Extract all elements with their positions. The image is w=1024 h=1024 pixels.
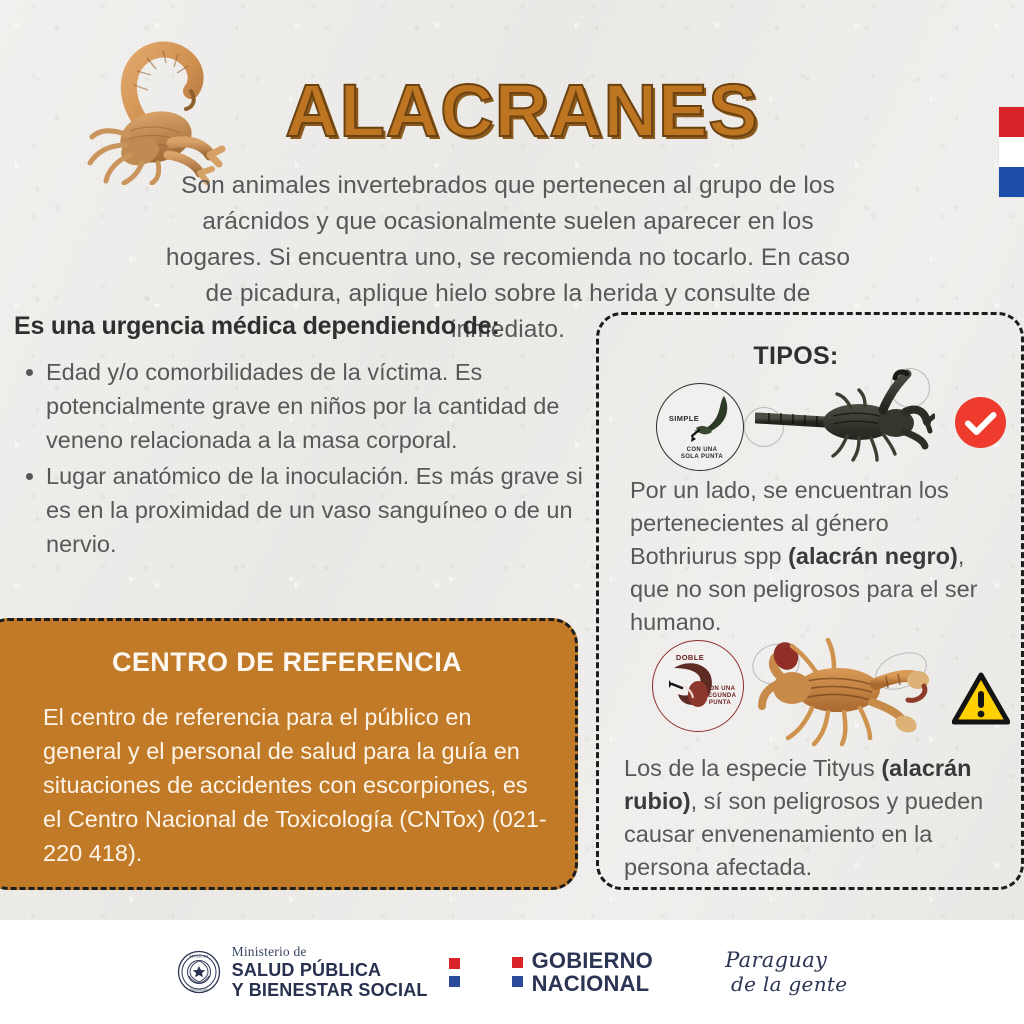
footer-bar: REPUBLICA PARAGUAY Ministerio de SALUD P… [0, 920, 1024, 1024]
ministry-accent-squares [449, 958, 460, 987]
scorpion-photo-image [68, 25, 248, 185]
types-description-black: Por un lado, se encuentran los perteneci… [630, 474, 1000, 639]
ministry-line-2: SALUD PÚBLICA [232, 961, 428, 979]
ministry-logo: REPUBLICA PARAGUAY Ministerio de SALUD P… [177, 945, 460, 1000]
slogan-line-1: Paraguay [705, 949, 847, 973]
svg-text:PARAGUAY: PARAGUAY [190, 988, 208, 992]
brown-scorpion-illustration [742, 632, 932, 750]
urgency-list: Edad y/o comorbilidades de la víctima. E… [16, 355, 586, 563]
types-text-bold: (alacrán negro) [788, 543, 958, 569]
pincer-single-tip-illustration [690, 392, 734, 448]
paraguay-slogan-logo: Paraguay de la gente [705, 949, 847, 995]
reference-center-body: El centro de referencia para el público … [0, 700, 575, 870]
red-square-icon [512, 957, 523, 968]
government-accent-squares [512, 957, 523, 987]
types-text-part: Los de la especie Tityus [624, 755, 881, 781]
list-item: Edad y/o comorbilidades de la víctima. E… [46, 355, 586, 457]
page-title: ALACRANES [262, 74, 782, 148]
government-line-1: GOBIERNO [532, 949, 653, 972]
ministry-line-1: Ministerio de [232, 945, 428, 959]
detail-label-simple-bottom: CON UNA SOLA PUNTA [679, 447, 725, 461]
infographic-page: ALACRANES Son animales invertebrados que… [0, 0, 1024, 1024]
republic-seal-icon: REPUBLICA PARAGUAY [177, 950, 221, 994]
svg-text:REPUBLICA: REPUBLICA [189, 955, 209, 959]
check-circle-icon [955, 397, 1006, 448]
blue-square-icon [512, 976, 523, 987]
urgency-heading: Es una urgencia médica dependiendo de: [14, 312, 574, 341]
reference-center-title: CENTRO DE REFERENCIA [0, 647, 575, 678]
slogan-line-2: de la gente [705, 973, 847, 995]
list-item: Lugar anatómico de la inoculación. Es má… [46, 459, 586, 561]
ministry-line-3: Y BIENESTAR SOCIAL [232, 981, 428, 999]
warning-triangle-icon [952, 672, 1010, 726]
pincer-double-tip-illustration [668, 652, 724, 718]
black-scorpion-illustration [755, 366, 935, 472]
government-line-2: NACIONAL [532, 972, 653, 995]
types-description-brown: Los de la especie Tityus (alacrán rubio)… [624, 752, 994, 884]
paraguay-flag-icon [999, 107, 1024, 197]
government-logo: GOBIERNO NACIONAL [512, 949, 653, 995]
reference-center-card: CENTRO DE REFERENCIA El centro de refere… [0, 618, 578, 890]
blue-square-icon [449, 976, 460, 987]
red-square-icon [449, 958, 460, 969]
